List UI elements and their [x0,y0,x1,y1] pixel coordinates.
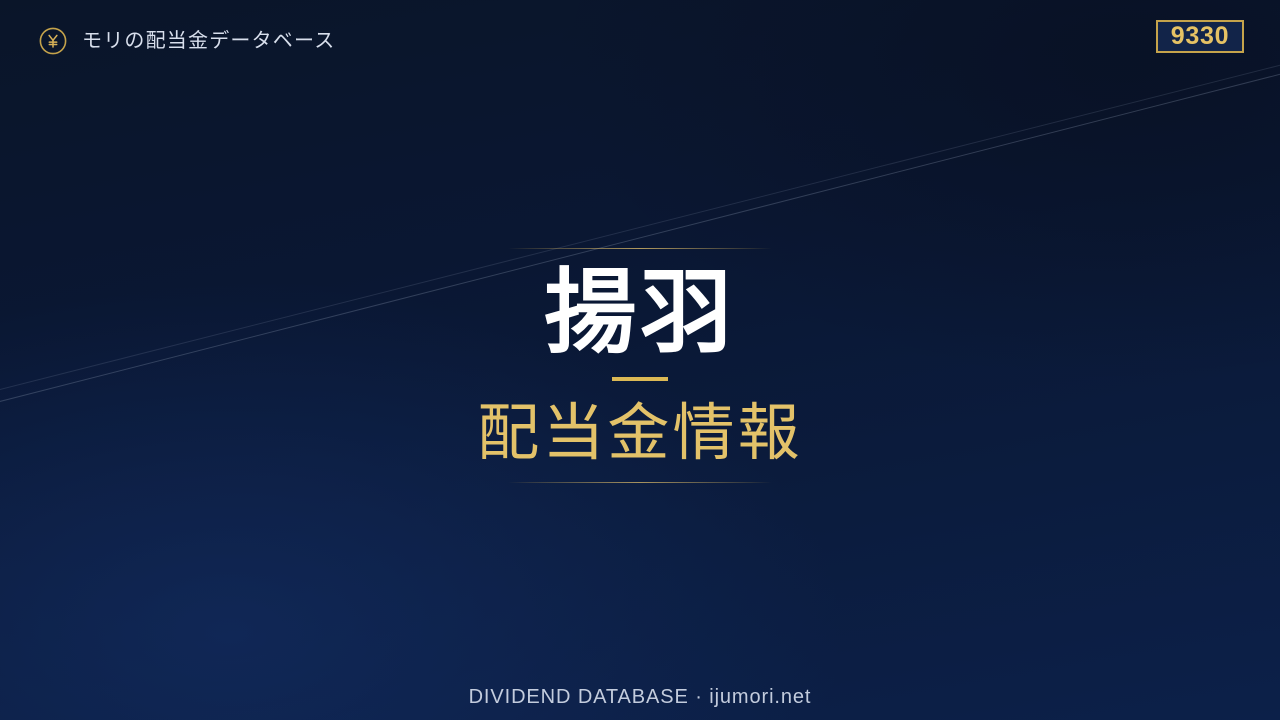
top-divider-rule [508,248,772,249]
stock-code-badge[interactable]: 9330 [1156,20,1244,53]
yen-coin-icon [38,26,68,56]
stock-code-value: 9330 [1171,24,1230,49]
title-block: 揚羽 配当金情報 [0,248,1280,483]
bottom-divider-rule [508,482,772,483]
brand[interactable]: モリの配当金データベース [38,26,335,56]
gold-accent-bar [612,377,668,381]
brand-label: モリの配当金データベース [82,31,335,51]
page-subtitle: 配当金情報 [477,401,803,468]
page-header: モリの配当金データベース 9330 [0,0,1280,90]
slide-canvas: モリの配当金データベース 9330 揚羽 配当金情報 DIVIDEND DATA… [0,0,1280,720]
company-name: 揚羽 [544,267,735,361]
footer-label: DIVIDEND DATABASE · ijumori.net [469,686,812,708]
page-footer: DIVIDEND DATABASE · ijumori.net [0,687,1280,708]
